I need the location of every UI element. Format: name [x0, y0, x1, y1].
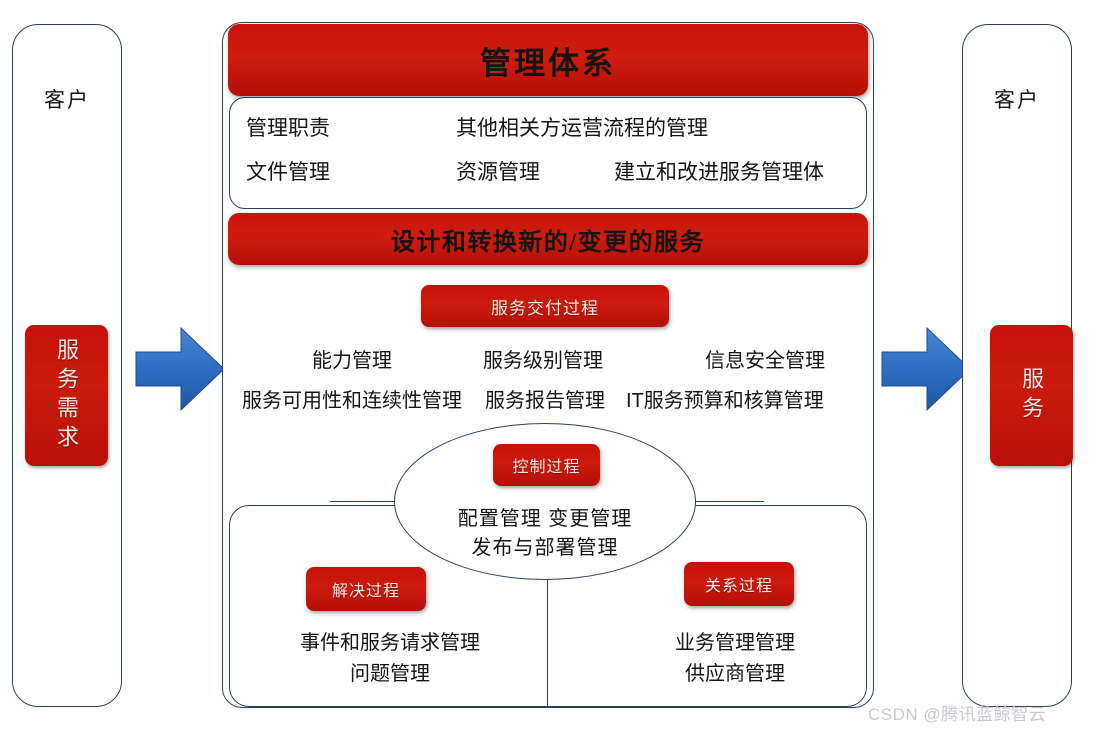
service-delivery-row-2: 服务可用性和连续性管理 服务报告管理 IT服务预算和核算管理 [228, 384, 868, 418]
governance-banner-label: 管理体系 [480, 38, 616, 83]
service-delivery-label: 服务交付过程 [491, 294, 599, 319]
relationship-process-pill: 关系过程 [684, 562, 794, 606]
left-flow-arrow [134, 325, 226, 413]
delivery-item-service-reporting: 服务报告管理 [485, 384, 605, 413]
control-process-line-1: 配置管理 变更管理 [394, 502, 696, 531]
governance-row-1: 管理职责 其他相关方运营流程的管理 [230, 112, 866, 142]
governance-detail-box: 管理职责 其他相关方运营流程的管理 文件管理 资源管理 建立和改进服务管理体 [229, 97, 867, 209]
service-label: 服务 [1020, 367, 1043, 425]
service-requirement-badge: 服务需求 [25, 325, 108, 466]
resolution-process-pill: 解决过程 [306, 567, 426, 611]
relationship-item-supplier: 供应商管理 [600, 659, 870, 690]
watermark: CSDN @腾讯蓝鲸智云 [868, 700, 1046, 725]
service-delivery-items: 能力管理 服务级别管理 信息安全管理 服务可用性和连续性管理 服务报告管理 IT… [228, 344, 868, 418]
ellipse-right-connector [694, 501, 764, 502]
resolution-item-incident-request: 事件和服务请求管理 [240, 628, 540, 659]
delivery-item-capacity: 能力管理 [312, 344, 392, 373]
relationship-process-label: 关系过程 [705, 572, 773, 596]
right-arrow-icon [134, 325, 226, 413]
resolution-item-problem: 问题管理 [240, 659, 540, 690]
design-transition-label: 设计和转换新的/变更的服务 [391, 222, 705, 257]
resolution-process-items: 事件和服务请求管理 问题管理 [240, 628, 540, 690]
service-delivery-pill: 服务交付过程 [421, 285, 669, 327]
delivery-item-availability-continuity: 服务可用性和连续性管理 [242, 384, 462, 413]
governance-banner: 管理体系 [228, 24, 868, 96]
governance-item-management-responsibility: 管理职责 [246, 112, 330, 142]
right-arrow-icon [880, 325, 972, 413]
left-column-title: 客户 [12, 84, 122, 114]
right-column-title: 客户 [962, 84, 1072, 114]
governance-item-other-party-process: 其他相关方运营流程的管理 [456, 112, 708, 142]
design-transition-banner: 设计和转换新的/变更的服务 [228, 213, 868, 265]
relationship-process-items: 业务管理管理 供应商管理 [600, 628, 870, 690]
ellipse-left-connector [330, 501, 396, 502]
relationship-item-business: 业务管理管理 [600, 628, 870, 659]
governance-item-establish-improve: 建立和改进服务管理体 [614, 156, 824, 186]
right-flow-arrow [880, 325, 972, 413]
delivery-item-information-security: 信息安全管理 [705, 344, 825, 373]
governance-item-document-management: 文件管理 [246, 156, 330, 186]
resolution-process-label: 解决过程 [332, 577, 400, 601]
control-process-line-2: 发布与部署管理 [394, 531, 696, 560]
governance-row-2: 文件管理 资源管理 建立和改进服务管理体 [230, 156, 866, 186]
service-requirement-label: 服务需求 [55, 338, 78, 454]
governance-item-resource-management: 资源管理 [456, 156, 540, 186]
delivery-item-service-level: 服务级别管理 [483, 344, 603, 373]
delivery-item-budget-accounting: IT服务预算和核算管理 [626, 384, 824, 413]
diagram-canvas: 客户 服务需求 管理体系 管理职责 其他相关方运营流程的管理 文件管理 [0, 0, 1098, 731]
service-delivery-row-1: 能力管理 服务级别管理 信息安全管理 [228, 344, 868, 378]
control-process-label: 控制过程 [512, 453, 580, 477]
service-badge: 服务 [990, 325, 1073, 466]
control-process-pill: 控制过程 [493, 444, 600, 486]
